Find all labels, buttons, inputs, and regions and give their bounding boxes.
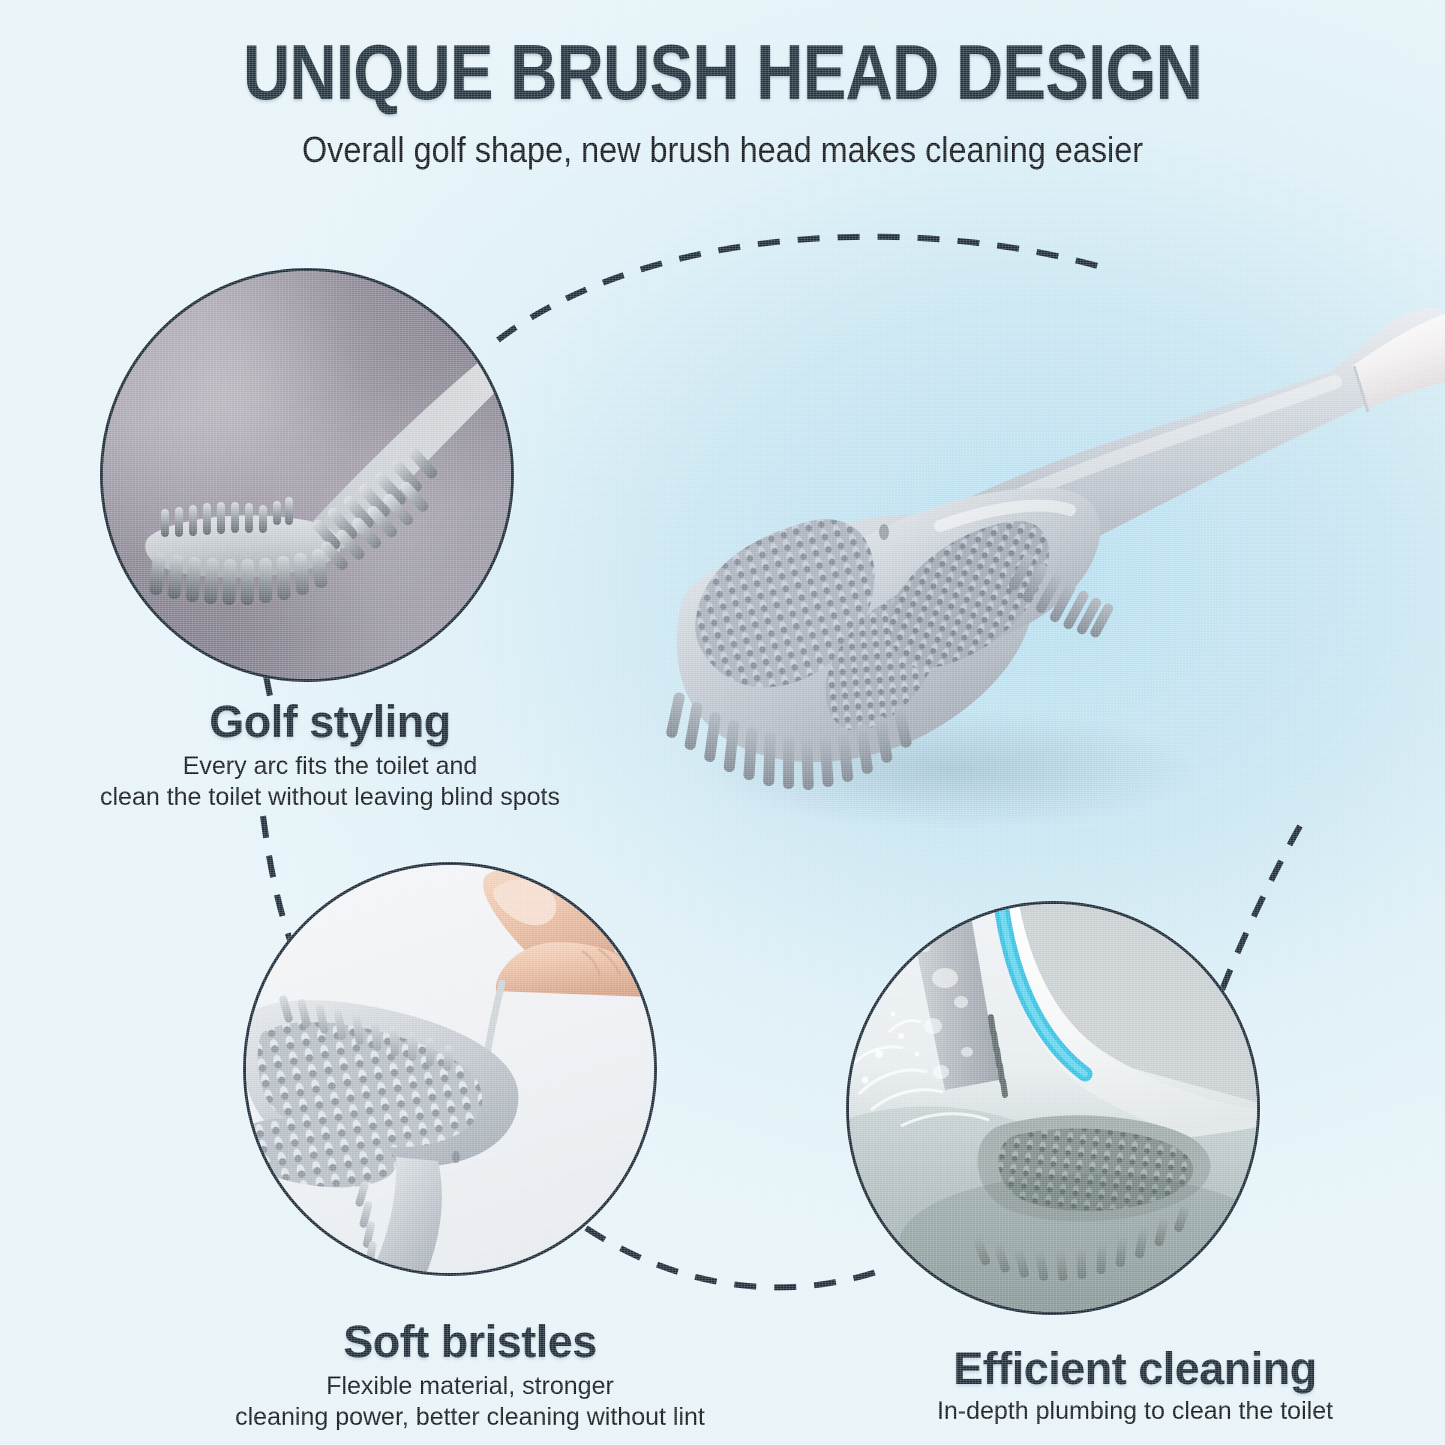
callout-soft-art <box>246 865 657 1276</box>
label-block-efficient-cleaning: Efficient cleaning In-depth plumbing to … <box>830 1345 1440 1427</box>
callout-golf-photo <box>103 271 511 679</box>
label-block-soft-bristles: Soft bristles Flexible material, stronge… <box>180 1318 760 1432</box>
callout-circle-soft-bristles <box>243 862 657 1276</box>
c2-neck-fins <box>355 1180 379 1276</box>
page-subtitle: Overall golf shape, new brush head makes… <box>72 130 1373 170</box>
label-title-soft-bristles: Soft bristles <box>180 1318 760 1365</box>
label-desc-efficient-cleaning: In-depth plumbing to clean the toilet <box>830 1396 1440 1427</box>
label-title-efficient-cleaning: Efficient cleaning <box>830 1345 1440 1392</box>
c2-pulled-bristle <box>486 983 502 1061</box>
label-desc-line1: Every arc fits the toilet and <box>40 751 620 782</box>
label-block-golf-styling: Golf styling Every arc fits the toilet a… <box>40 698 620 812</box>
infographic-canvas: Golf styling Every arc fits the toilet a… <box>0 0 1445 1445</box>
label-title-golf-styling: Golf styling <box>40 698 620 745</box>
label-desc-soft-bristles: Flexible material, stronger cleaning pow… <box>180 1371 760 1432</box>
callout-soft-photo <box>246 865 654 1273</box>
backdrop-texture <box>100 268 514 682</box>
page-title: UNIQUE BRUSH HEAD DESIGN <box>116 33 1330 111</box>
c3-handle <box>907 904 999 1090</box>
callout-clean-art <box>849 904 1260 1315</box>
label-desc-line1: Flexible material, stronger <box>180 1371 760 1402</box>
hero-product-image <box>630 300 1445 860</box>
label-desc-golf-styling: Every arc fits the toilet and clean the … <box>40 751 620 812</box>
callout-clean-photo <box>849 904 1257 1312</box>
callout-circle-efficient-cleaning <box>846 901 1260 1315</box>
label-desc-line1: In-depth plumbing to clean the toilet <box>830 1396 1440 1427</box>
label-desc-line2: clean the toilet without leaving blind s… <box>40 782 620 813</box>
callout-circle-golf-styling <box>100 268 514 682</box>
label-desc-line2: cleaning power, better cleaning without … <box>180 1402 760 1433</box>
c2-hole <box>452 1151 460 1163</box>
hang-hole <box>879 524 889 540</box>
